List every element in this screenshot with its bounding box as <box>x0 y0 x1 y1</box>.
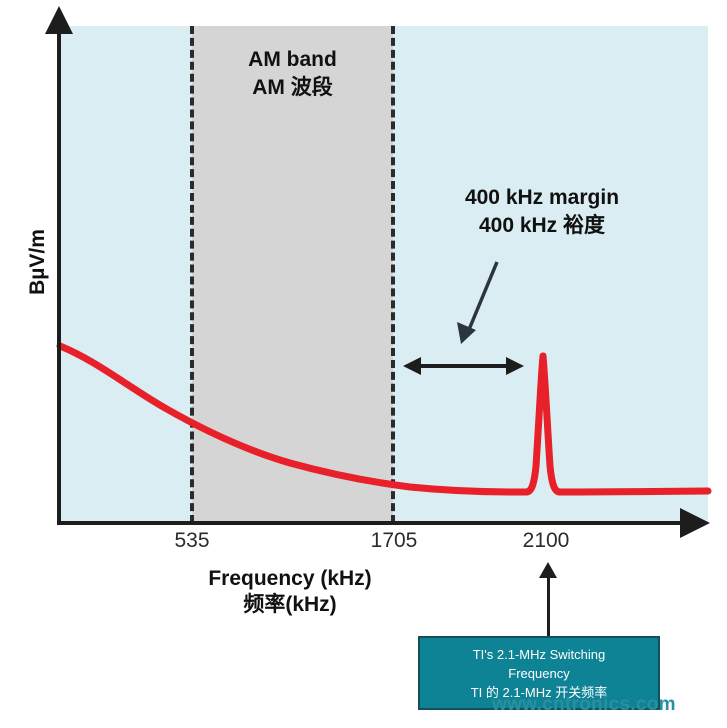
am-band-annotation: AM band AM 波段 <box>192 46 393 103</box>
y-axis-arrowhead-icon <box>45 6 73 34</box>
x-axis-title-cn: 频率(kHz) <box>100 592 480 618</box>
x-tick-label-2100: 2100 <box>523 529 570 553</box>
margin-annotation: 400 kHz margin 400 kHz 裕度 <box>418 184 666 241</box>
callout-line-2: Frequency <box>420 665 658 684</box>
chart-figure: 535 1705 2100 BµV/m Frequency (kHz) 频率(k… <box>0 0 727 728</box>
x-axis-title: Frequency (kHz) 频率(kHz) <box>100 566 480 619</box>
x-axis-line <box>57 521 686 525</box>
am-band-label-en: AM band <box>192 46 393 74</box>
margin-label-en: 400 kHz margin <box>418 184 666 212</box>
y-axis-line <box>57 30 61 525</box>
x-axis-title-en: Frequency (kHz) <box>100 566 480 592</box>
callout-pointer-arrowhead-icon <box>539 562 557 578</box>
x-tick-label-1705: 1705 <box>371 529 418 553</box>
callout-line-1: TI's 2.1-MHz Switching <box>420 646 658 665</box>
watermark: www.cntronics.com <box>492 694 676 716</box>
y-axis-title: BµV/m <box>26 202 50 322</box>
x-tick-label-535: 535 <box>174 529 209 553</box>
callout-pointer-line <box>547 575 550 637</box>
x-axis-arrowhead-icon <box>680 508 710 538</box>
am-band-label-cn: AM 波段 <box>192 74 393 102</box>
margin-label-cn: 400 kHz 裕度 <box>418 212 666 240</box>
